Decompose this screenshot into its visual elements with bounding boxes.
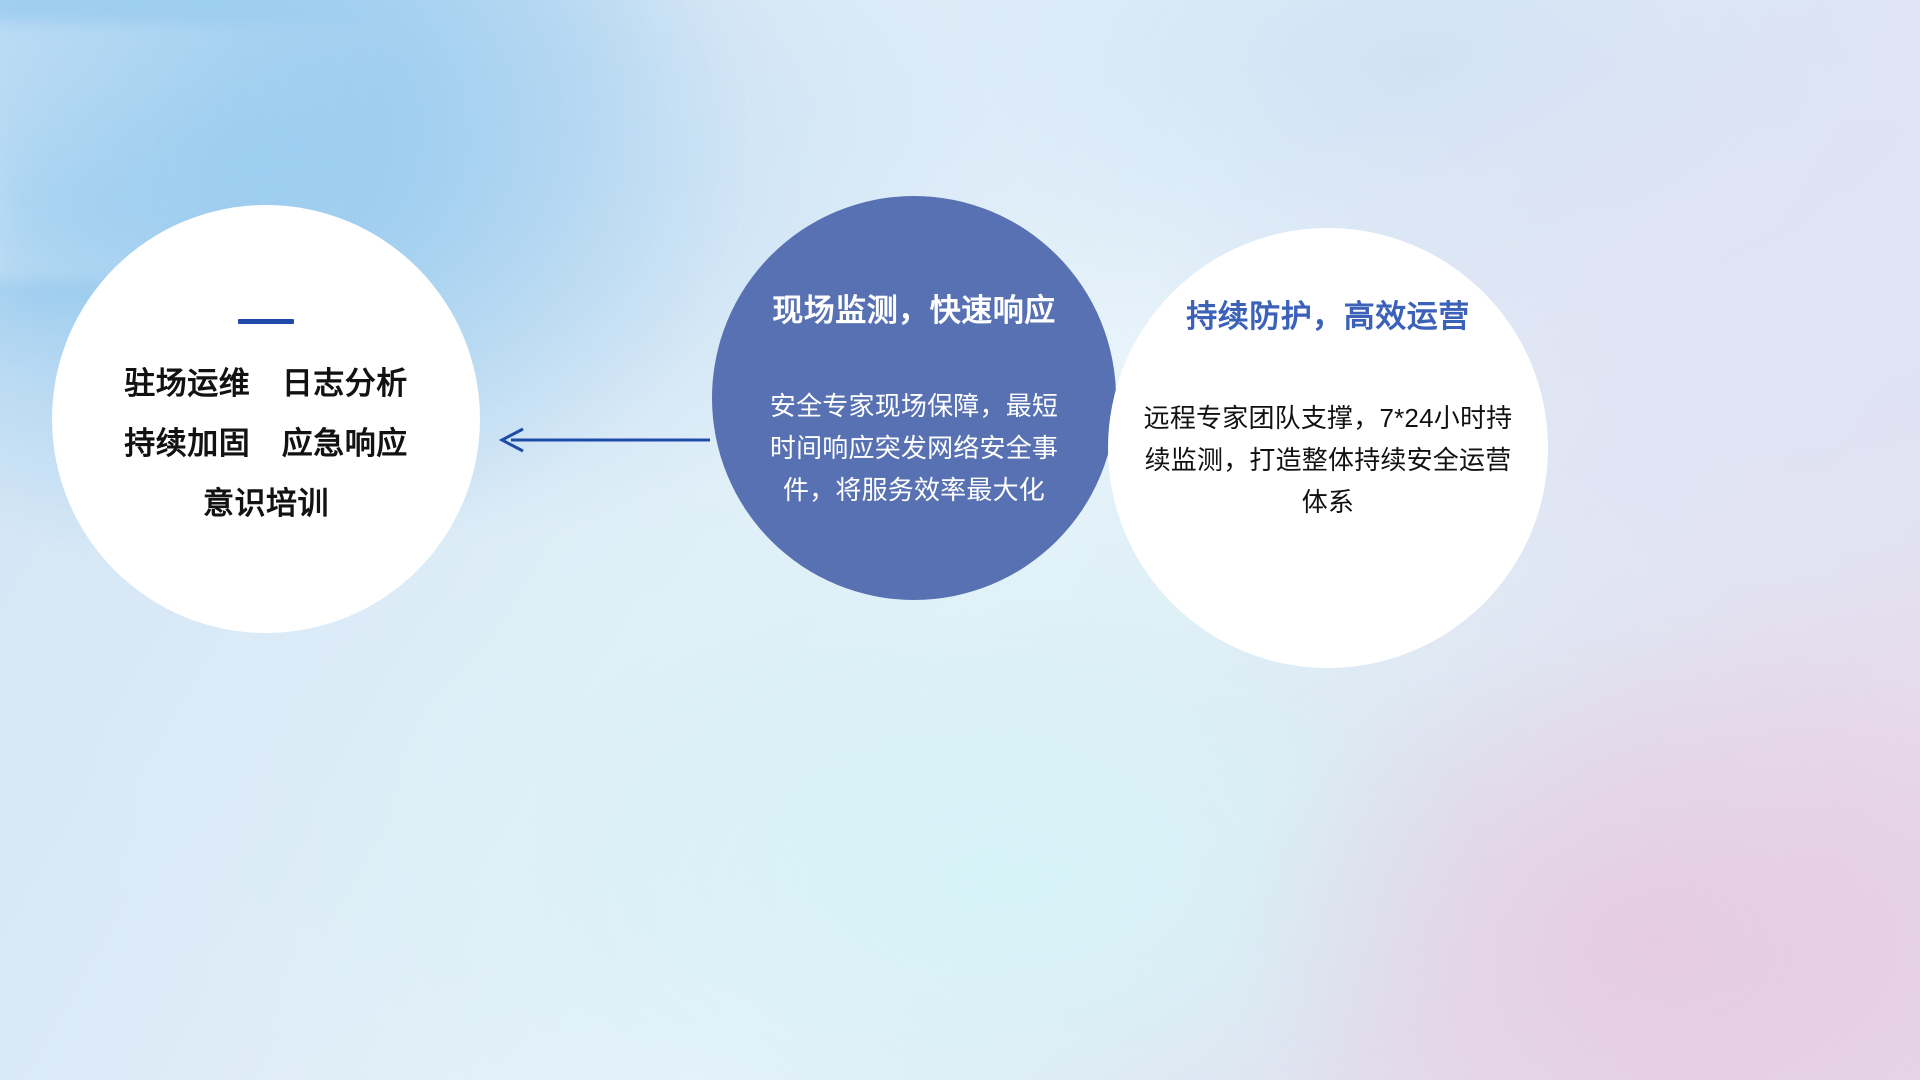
left-circle-content: 驻场运维 日志分析 持续加固 应急响应 意识培训 (52, 205, 480, 633)
slide-canvas: 驻场运维 日志分析 持续加固 应急响应 意识培训 现场监测，快速响应 安全专家现… (0, 0, 1920, 1080)
left-pointing-arrow (497, 421, 711, 459)
capability-line-2: 持续加固 应急响应 (124, 428, 408, 459)
right-circle-body: 远程专家团队支撑，7*24小时持续监测，打造整体持续安全运营体系 (1143, 397, 1513, 523)
middle-circle-title: 现场监测，快速响应 (772, 292, 1056, 329)
capability-line-3: 意识培训 (203, 488, 329, 519)
divider-dash (238, 319, 294, 324)
background-glow-bottom-right (1229, 626, 1920, 1080)
right-circle-content: 持续防护，高效运营 远程专家团队支撑，7*24小时持续监测，打造整体持续安全运营… (1108, 228, 1548, 668)
capability-line-1: 驻场运维 日志分析 (124, 368, 408, 399)
right-circle-title: 持续防护，高效运营 (1186, 298, 1470, 335)
middle-circle-content: 现场监测，快速响应 安全专家现场保障，最短时间响应突发网络安全事件，将服务效率最… (712, 196, 1116, 600)
middle-circle-body: 安全专家现场保障，最短时间响应突发网络安全事件，将服务效率最大化 (760, 385, 1068, 511)
